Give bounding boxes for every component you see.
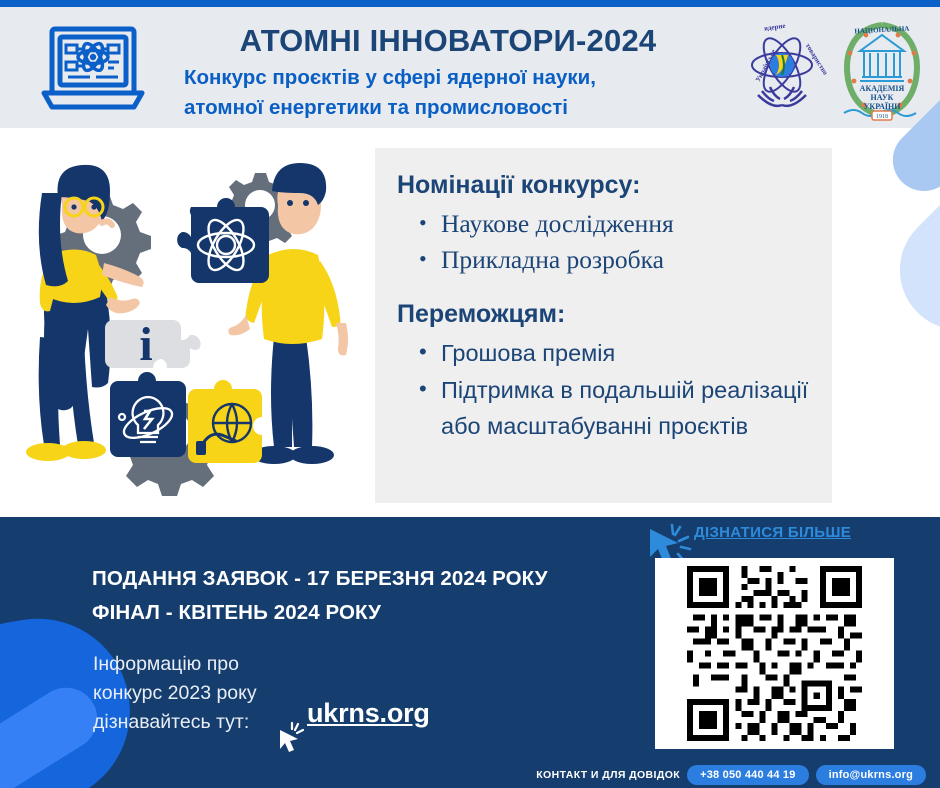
svg-text:НАУК: НАУК — [871, 93, 894, 102]
poster-root: АТОМНІ ІННОВАТОРИ-2024 Конкурс проєктів … — [0, 0, 940, 788]
page-title: АТОМНІ ІННОВАТОРИ-2024 — [178, 21, 718, 61]
contact-phone[interactable]: +38 050 440 44 19 — [687, 765, 808, 785]
teamwork-puzzle-illustration: i — [6, 145, 364, 507]
header-text-block: АТОМНІ ІННОВАТОРИ-2024 Конкурс проєктів … — [178, 21, 718, 121]
learn-more-link[interactable]: ДІЗНАТИСЯ БІЛЬШЕ — [694, 524, 851, 541]
ukrainian-nuclear-society-logo: Українське ядерне товариство — [736, 15, 828, 123]
contact-label: КОНТАКТ И ДЛЯ ДОВІДОК — [536, 769, 680, 781]
winners-heading: Переможцям: — [397, 299, 812, 329]
list-item: Прикладна розробка — [441, 242, 812, 277]
deadlines-block: ПОДАННЯ ЗАЯВОК - 17 БЕРЕЗНЯ 2024 РОКУ ФІ… — [92, 562, 572, 630]
contact-email[interactable]: info@ukrns.org — [816, 765, 926, 785]
list-item: Підтримка в подальшій реалізації або мас… — [441, 372, 812, 444]
svg-text:1918: 1918 — [876, 114, 888, 120]
svg-text:ядерне: ядерне — [764, 22, 786, 33]
deadline-final: ФІНАЛ - КВІТЕНЬ 2024 РОКУ — [92, 596, 572, 630]
site-link[interactable]: ukrns.org — [307, 698, 430, 729]
info-line-1: Інформацію про — [93, 650, 323, 679]
poster-subtitle-line2: атомної енергетики та промисловості — [178, 95, 718, 121]
puzzle-piece-info: i — [105, 318, 201, 371]
deadline-applications: ПОДАННЯ ЗАЯВОК - 17 БЕРЕЗНЯ 2024 РОКУ — [92, 562, 572, 596]
nominations-list: Наукове дослідження Прикладна розробка — [397, 206, 812, 277]
list-item: Наукове дослідження — [441, 206, 812, 241]
contact-row: КОНТАКТ И ДЛЯ ДОВІДОК +38 050 440 44 19 … — [0, 762, 940, 788]
organisation-logos: Українське ядерне товариство — [736, 15, 928, 123]
svg-text:УКРАЇНИ: УКРАЇНИ — [864, 102, 902, 111]
nominations-heading: Номінації конкурсу: — [397, 170, 812, 200]
svg-text:АКАДЕМІЯ: АКАДЕМІЯ — [860, 84, 905, 93]
info-line-2: конкурс 2023 року — [93, 679, 323, 708]
winners-list: Грошова премія Підтримка в подальшій реа… — [397, 335, 812, 444]
poster-subtitle-line1: Конкурс проєктів у сфері ядерної науки, — [178, 65, 718, 91]
competition-info-panel: Номінації конкурсу: Наукове дослідження … — [375, 148, 832, 503]
poster-header: АТОМНІ ІННОВАТОРИ-2024 Конкурс проєктів … — [0, 7, 940, 128]
list-item: Грошова премія — [441, 335, 812, 371]
puzzle-piece-globe — [188, 380, 262, 463]
puzzle-piece-atom — [177, 198, 269, 283]
laptop-atom-icon — [38, 21, 148, 115]
svg-text:i: i — [139, 318, 152, 371]
national-academy-of-sciences-logo: НАЦІОНАЛЬНА АКАДЕМІЯ НАУК УКРАЇНИ 1918 — [836, 15, 928, 123]
cursor-click-icon — [272, 720, 308, 756]
top-accent-stripe — [0, 0, 940, 7]
qr-code[interactable] — [655, 558, 894, 749]
